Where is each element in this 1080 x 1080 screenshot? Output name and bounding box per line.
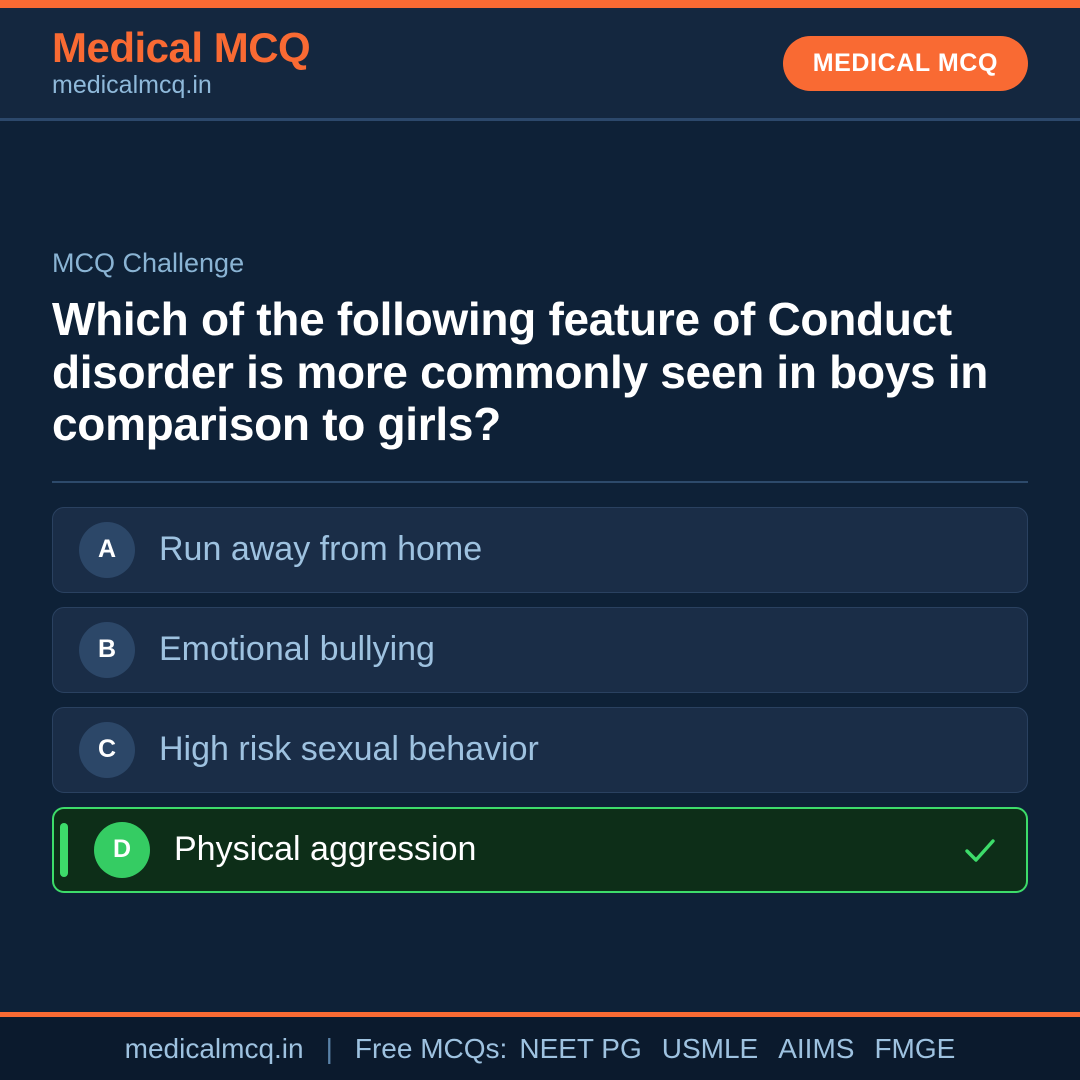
option-b-text: Emotional bullying <box>159 629 1001 670</box>
option-c[interactable]: C High risk sexual behavior <box>52 707 1028 793</box>
mcq-card: Medical MCQ medicalmcq.in MEDICAL MCQ MC… <box>0 0 1080 1080</box>
options-list: A Run away from home B Emotional bullyin… <box>52 507 1028 893</box>
brand-subtitle: medicalmcq.in <box>52 72 310 100</box>
option-d[interactable]: D Physical aggression <box>52 807 1028 893</box>
page-footer: medicalmcq.in | Free MCQs: NEET PG USMLE… <box>0 1012 1080 1080</box>
option-b[interactable]: B Emotional bullying <box>52 607 1028 693</box>
option-c-text: High risk sexual behavior <box>159 729 1001 770</box>
question-text: Which of the following feature of Conduc… <box>52 293 1022 450</box>
header-badge: MEDICAL MCQ <box>783 36 1028 91</box>
footer-site: medicalmcq.in <box>125 1033 304 1065</box>
brand: Medical MCQ medicalmcq.in <box>52 26 310 100</box>
top-accent-bar <box>0 0 1080 8</box>
footer-exam-usmle: USMLE <box>662 1033 758 1065</box>
footer-exam-aiims: AIIMS <box>778 1033 854 1065</box>
footer-exam-neetpg: NEET PG <box>519 1033 641 1065</box>
footer-content: medicalmcq.in | Free MCQs: NEET PG USMLE… <box>125 1033 956 1065</box>
footer-exam-fmge: FMGE <box>874 1033 955 1065</box>
option-a-text: Run away from home <box>159 529 1001 570</box>
option-b-letter: B <box>79 622 135 678</box>
option-d-check-icon <box>960 830 1000 870</box>
eyebrow-label: MCQ Challenge <box>52 247 1028 279</box>
correct-accent-bar <box>60 823 68 877</box>
page-header: Medical MCQ medicalmcq.in MEDICAL MCQ <box>0 8 1080 121</box>
main-content: MCQ Challenge Which of the following fea… <box>0 121 1080 1012</box>
option-c-letter: C <box>79 722 135 778</box>
option-a[interactable]: A Run away from home <box>52 507 1028 593</box>
option-a-letter: A <box>79 522 135 578</box>
brand-title: Medical MCQ <box>52 26 310 70</box>
option-d-text: Physical aggression <box>174 829 948 870</box>
question-divider <box>52 481 1028 483</box>
option-d-letter: D <box>94 822 150 878</box>
footer-separator: | <box>326 1033 333 1065</box>
footer-label: Free MCQs: <box>355 1033 507 1065</box>
